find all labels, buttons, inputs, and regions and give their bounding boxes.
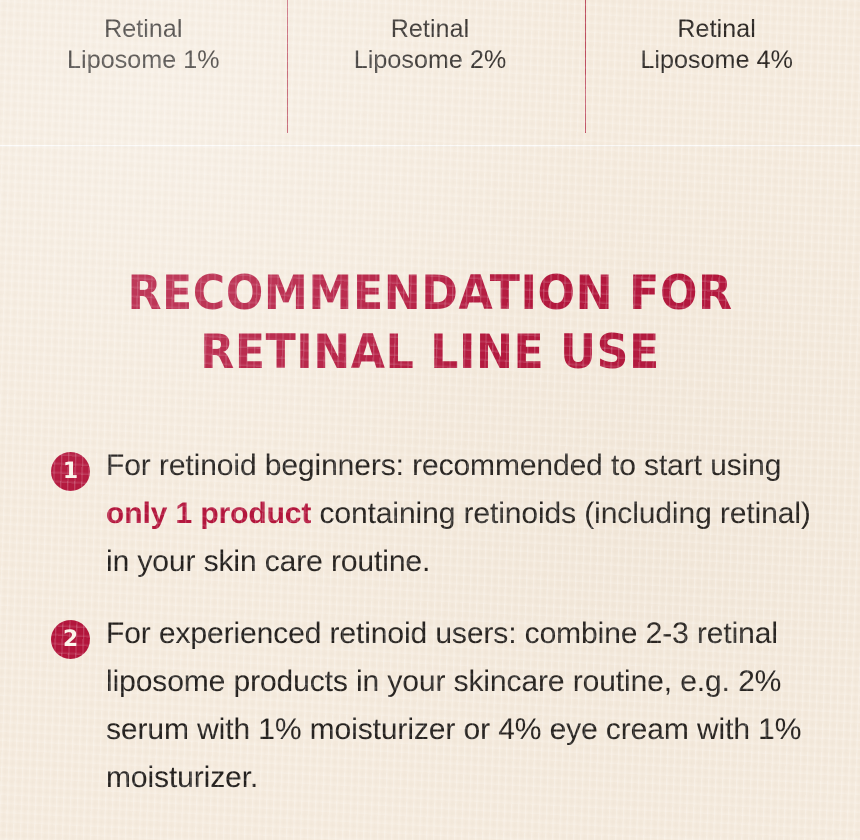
product-column-label: Retinal Liposome 1% xyxy=(67,14,220,146)
list-number-badge: 1 xyxy=(51,452,90,491)
list-item: 1 For retinoid beginners: recommended to… xyxy=(0,442,860,586)
page-root: Retinal Liposome 1% Retinal Liposome 2% … xyxy=(0,0,860,840)
product-column-header-band: Retinal Liposome 1% Retinal Liposome 2% … xyxy=(0,0,860,146)
column-divider-2 xyxy=(585,0,586,133)
recommendation-text: For retinoid beginners: recommended to s… xyxy=(106,449,811,578)
page-title: RECOMMENDATION FOR RETINAL LINE USE xyxy=(26,146,834,383)
list-number-badge: 2 xyxy=(51,620,90,659)
product-column-retinal-liposome-2: Retinal Liposome 2% xyxy=(287,0,574,146)
recommendation-text-before: For experienced retinoid users: combine … xyxy=(106,617,801,794)
product-column-retinal-liposome-1: Retinal Liposome 1% xyxy=(0,0,287,146)
recommendation-text: For experienced retinoid users: combine … xyxy=(106,617,801,794)
list-item: 2 For experienced retinoid users: combin… xyxy=(0,610,860,802)
column-divider-1 xyxy=(287,0,288,133)
product-column-retinal-liposome-4: Retinal Liposome 4% xyxy=(573,0,860,146)
recommendation-emphasis: only 1 product xyxy=(106,497,311,530)
main-content: RECOMMENDATION FOR RETINAL LINE USE 1 Fo… xyxy=(0,146,860,802)
product-column-label: Retinal Liposome 2% xyxy=(354,14,507,146)
recommendation-text-before: For retinoid beginners: recommended to s… xyxy=(106,449,781,482)
product-column-label: Retinal Liposome 4% xyxy=(640,14,793,146)
recommendation-list: 1 For retinoid beginners: recommended to… xyxy=(0,383,860,802)
